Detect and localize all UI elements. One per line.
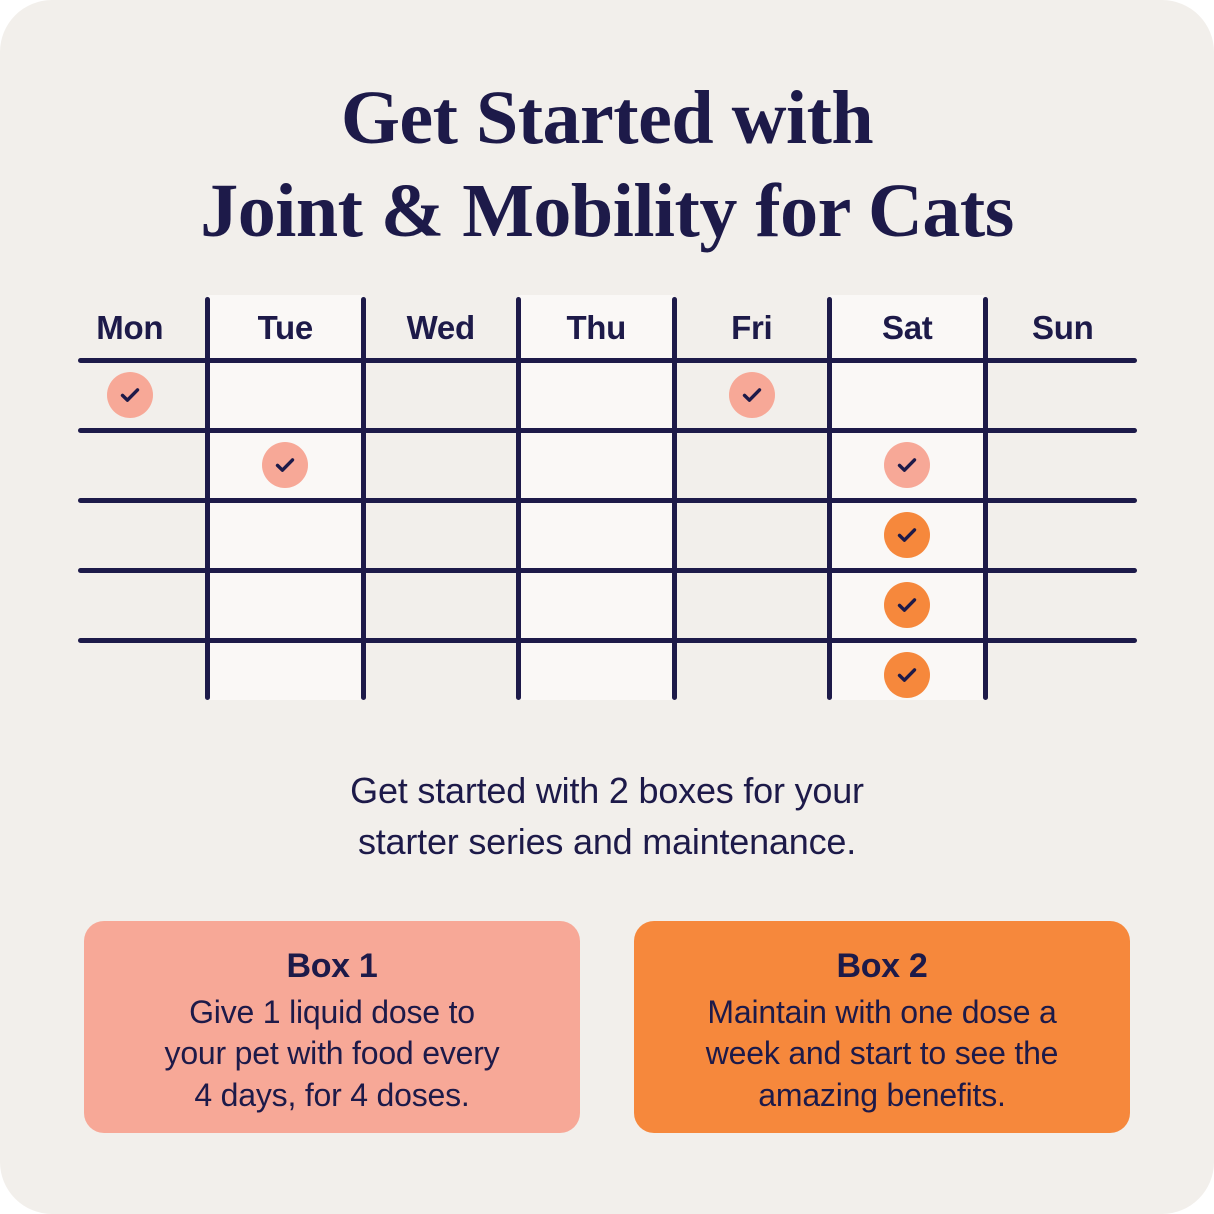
box-1-body: Give 1 liquid dose to your pet with food… xyxy=(84,992,580,1117)
check-icon xyxy=(895,593,919,617)
check-icon xyxy=(895,523,919,547)
subtitle-line-2: starter series and maintenance. xyxy=(0,816,1214,867)
page-title-line-1: Get Started with xyxy=(0,72,1214,165)
check-icon xyxy=(895,453,919,477)
day-header-tue: Tue xyxy=(208,309,364,347)
check-cell-row1-fri[interactable] xyxy=(729,372,775,418)
infographic-card: Get Started with Joint & Mobility for Ca… xyxy=(0,0,1214,1214)
box-2-body-line-1: Maintain with one dose a xyxy=(650,992,1114,1034)
day-header-sat: Sat xyxy=(830,309,986,347)
subtitle: Get started with 2 boxes for your starte… xyxy=(0,765,1214,867)
grid-hline-4 xyxy=(78,638,1137,643)
grid-hline-1 xyxy=(78,428,1137,433)
day-header-sun: Sun xyxy=(985,309,1141,347)
page-title-line-2: Joint & Mobility for Cats xyxy=(0,165,1214,258)
page-title: Get Started with Joint & Mobility for Ca… xyxy=(0,72,1214,257)
dosing-calendar: Mon Tue Wed Thu Fri Sat Sun xyxy=(52,295,1138,705)
box-2-body-line-3: amazing benefits. xyxy=(650,1075,1114,1117)
grid-hline-header xyxy=(78,358,1137,363)
box-1-body-line-1: Give 1 liquid dose to xyxy=(100,992,564,1034)
check-cell-row2-tue[interactable] xyxy=(262,442,308,488)
box-1-body-line-2: your pet with food every xyxy=(100,1033,564,1075)
box-1-body-line-3: 4 days, for 4 doses. xyxy=(100,1075,564,1117)
day-header-fri: Fri xyxy=(674,309,830,347)
check-cell-row2-sat[interactable] xyxy=(884,442,930,488)
box-2-body: Maintain with one dose a week and start … xyxy=(634,992,1130,1117)
check-icon xyxy=(273,453,297,477)
subtitle-line-1: Get started with 2 boxes for your xyxy=(0,765,1214,816)
box-2-card: Box 2 Maintain with one dose a week and … xyxy=(634,921,1130,1133)
box-2-title: Box 2 xyxy=(634,945,1130,988)
check-icon xyxy=(895,663,919,687)
check-cell-row4-sat[interactable] xyxy=(884,582,930,628)
check-cell-row5-sat[interactable] xyxy=(884,652,930,698)
grid-hline-3 xyxy=(78,568,1137,573)
day-header-thu: Thu xyxy=(519,309,675,347)
box-1-card: Box 1 Give 1 liquid dose to your pet wit… xyxy=(84,921,580,1133)
box-1-title: Box 1 xyxy=(84,945,580,988)
check-cell-row1-mon[interactable] xyxy=(107,372,153,418)
check-cell-row3-sat[interactable] xyxy=(884,512,930,558)
grid-hline-2 xyxy=(78,498,1137,503)
box-2-body-line-2: week and start to see the xyxy=(650,1033,1114,1075)
check-icon xyxy=(740,383,764,407)
day-header-wed: Wed xyxy=(363,309,519,347)
check-icon xyxy=(118,383,142,407)
day-header-mon: Mon xyxy=(52,309,208,347)
